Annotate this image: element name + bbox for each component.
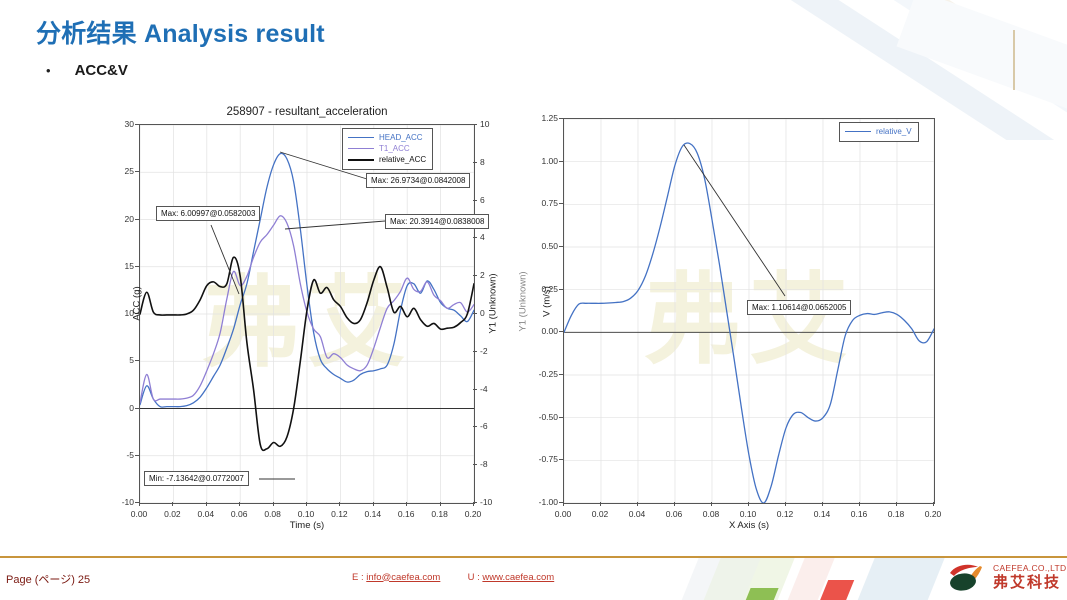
- y2-tick-mark: [473, 162, 477, 163]
- x-tick-mark: [373, 502, 374, 506]
- x-tick-label: 0.12: [777, 509, 794, 519]
- x-tick-label: 0.06: [231, 509, 248, 519]
- x-tick-label: 0.12: [331, 509, 348, 519]
- chart-title-left: 258907 - resultant_acceleration: [139, 106, 475, 118]
- callout-max-t1-acc: Max: 20.3914@0.0838008: [385, 214, 489, 229]
- logo-en: CAEFEA.CO.,LTD: [993, 564, 1066, 573]
- x-tick-mark: [748, 502, 749, 506]
- y2-tick-mark: [473, 464, 477, 465]
- x-tick-label: 0.14: [814, 509, 831, 519]
- x-tick-label: 0.02: [592, 509, 609, 519]
- x-tick-label: 0.14: [365, 509, 382, 519]
- y-tick-label: 1.00: [541, 156, 558, 166]
- y2-tick-mark: [473, 237, 477, 238]
- callout-max-relative-v: Max: 1.10614@0.0652005: [747, 300, 851, 315]
- x-tick-mark: [172, 502, 173, 506]
- y-tick-label: -0.75: [539, 454, 558, 464]
- chart-resultant-acceleration: 258907 - resultant_acceleration 弗艾 0.000…: [139, 124, 475, 504]
- x-tick-mark: [273, 502, 274, 506]
- y2-tick-mark: [473, 275, 477, 276]
- footer: Page (ページ) 25 E : info@caefea.com U : ww…: [0, 558, 1067, 600]
- x-tick-label: 0.10: [298, 509, 315, 519]
- y-tick-label: -5: [126, 450, 134, 460]
- contact-info: E : info@caefea.com U : www.caefea.com: [352, 572, 554, 583]
- x-tick-mark: [406, 502, 407, 506]
- x-tick-mark: [440, 502, 441, 506]
- y-tick-label: -0.25: [539, 369, 558, 379]
- y-tick-label: 30: [125, 119, 134, 129]
- x-tick-label: 0.10: [740, 509, 757, 519]
- x-tick-label: 0.18: [431, 509, 448, 519]
- y-tick-mark: [559, 502, 563, 503]
- y2-tick-mark: [473, 351, 477, 352]
- y2-tick-label: 10: [480, 119, 489, 129]
- x-tick-label: 0.08: [703, 509, 720, 519]
- y2-tick-label: -4: [480, 384, 488, 394]
- x-axis-label-right: X Axis (s): [563, 520, 935, 531]
- y-tick-mark: [135, 502, 139, 503]
- y2-tick-label: 4: [480, 232, 485, 242]
- y2-tick-mark: [473, 389, 477, 390]
- x-tick-label: 0.00: [555, 509, 572, 519]
- x-tick-mark: [859, 502, 860, 506]
- callout-leader: [285, 221, 385, 229]
- callout-leader: [211, 225, 239, 294]
- y2-tick-mark: [473, 502, 477, 503]
- y2-tick-label: 2: [480, 270, 485, 280]
- y2-axis-label-left: Y1 (Unknown): [488, 244, 499, 364]
- y2-tick-label: 8: [480, 157, 485, 167]
- x-tick-label: 0.18: [888, 509, 905, 519]
- website-link[interactable]: www.caefea.com: [482, 572, 554, 583]
- y2-tick-mark: [473, 124, 477, 125]
- y2-tick-label: 6: [480, 195, 485, 205]
- x-tick-label: 0.08: [264, 509, 281, 519]
- x-axis-label-left: Time (s): [139, 520, 475, 531]
- x-tick-mark: [306, 502, 307, 506]
- x-tick-label: 0.04: [629, 509, 646, 519]
- x-tick-mark: [711, 502, 712, 506]
- email-prefix: E :: [352, 572, 364, 583]
- url-prefix: U :: [468, 572, 480, 583]
- logo-mark-icon: [946, 562, 986, 592]
- y2-tick-label: -2: [480, 346, 488, 356]
- y-tick-label: -1.00: [539, 497, 558, 507]
- x-tick-label: 0.02: [164, 509, 181, 519]
- email-link[interactable]: info@caefea.com: [366, 572, 440, 583]
- x-tick-label: 0.04: [198, 509, 215, 519]
- y2-tick-mark: [473, 200, 477, 201]
- callout-max-head-acc: Max: 26.9734@0.0842008: [366, 173, 470, 188]
- x-tick-mark: [637, 502, 638, 506]
- page-title: 分析结果 Analysis result: [36, 14, 325, 50]
- x-tick-mark: [933, 502, 934, 506]
- company-logo: CAEFEA.CO.,LTD 弗艾科技: [946, 562, 1066, 592]
- y-tick-label: -0.50: [539, 412, 558, 422]
- y-tick-label: 20: [125, 214, 134, 224]
- x-tick-mark: [206, 502, 207, 506]
- x-tick-mark: [139, 502, 140, 506]
- x-tick-label: 0.20: [925, 509, 942, 519]
- callout-leader: [280, 152, 367, 179]
- y2-axis-label-right: Y1 (Unknown): [518, 242, 529, 362]
- logo-cn: 弗艾科技: [993, 575, 1066, 590]
- y2-tick-label: -6: [480, 421, 488, 431]
- y2-tick-label: 0: [480, 308, 485, 318]
- logo-text: CAEFEA.CO.,LTD 弗艾科技: [993, 564, 1066, 590]
- bullet-marker: •: [46, 64, 51, 77]
- x-tick-mark: [600, 502, 601, 506]
- y-tick-label: 1.25: [541, 113, 558, 123]
- x-tick-label: 0.06: [666, 509, 683, 519]
- x-tick-mark: [674, 502, 675, 506]
- callout-leader: [684, 145, 785, 296]
- y-axis-label-right: V (m/s): [542, 242, 553, 362]
- y-tick-label: 0: [129, 403, 134, 413]
- y-tick-label: 25: [125, 166, 134, 176]
- x-tick-mark: [785, 502, 786, 506]
- x-tick-label: 0.16: [851, 509, 868, 519]
- y-tick-label: -10: [122, 497, 134, 507]
- x-tick-label: 0.20: [465, 509, 482, 519]
- page-number: Page (ページ) 25: [6, 571, 90, 587]
- y2-tick-mark: [473, 313, 477, 314]
- x-tick-mark: [339, 502, 340, 506]
- x-tick-mark: [822, 502, 823, 506]
- y-tick-label: 0.75: [541, 198, 558, 208]
- x-tick-mark: [239, 502, 240, 506]
- callout-max-relative-acc: Max: 6.00997@0.0582003: [156, 206, 260, 221]
- y2-tick-label: -10: [480, 497, 492, 507]
- bullet-item: • ACC&V: [46, 62, 128, 79]
- slide: 分析结果 Analysis result • ACC&V 258907 - re…: [0, 0, 1067, 600]
- bullet-label: ACC&V: [75, 62, 128, 79]
- chart-relative-velocity: 弗艾 0.000.020.040.060.080.100.120.140.160…: [563, 118, 935, 504]
- x-tick-label: 0.16: [398, 509, 415, 519]
- x-tick-mark: [563, 502, 564, 506]
- callout-min-relative-acc: Min: -7.13642@0.0772007: [144, 471, 249, 486]
- x-tick-mark: [896, 502, 897, 506]
- y2-tick-label: -8: [480, 459, 488, 469]
- y2-tick-mark: [473, 426, 477, 427]
- x-tick-label: 0.00: [131, 509, 148, 519]
